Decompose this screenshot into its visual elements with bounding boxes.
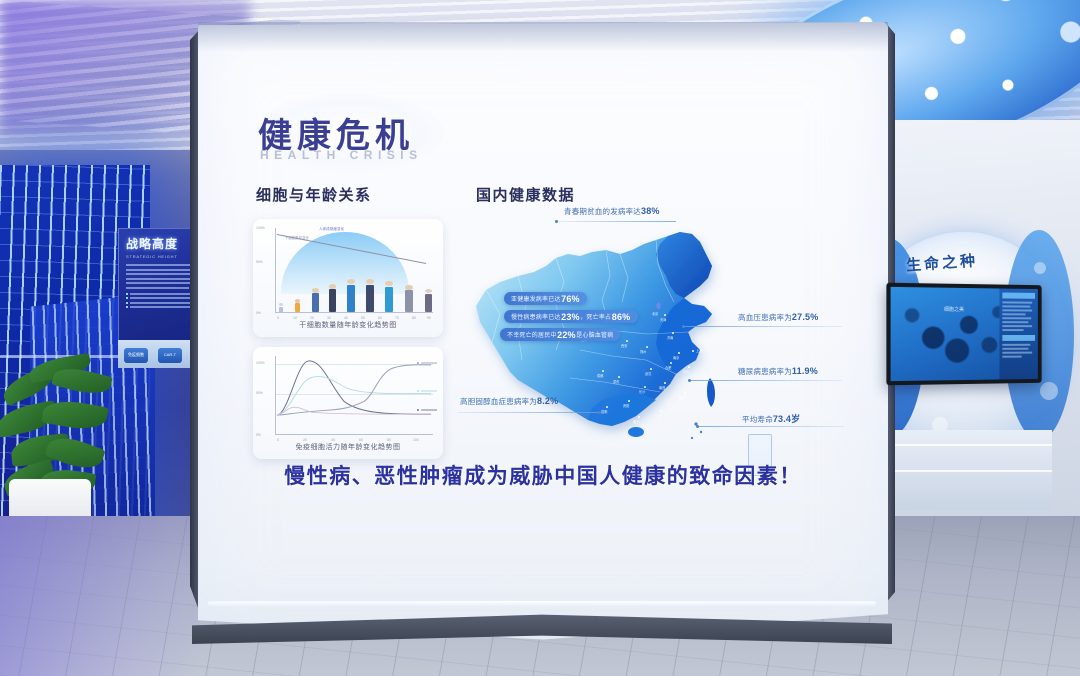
city-label-hefei: 合肥 [665, 365, 671, 370]
screen-label: 细胞之美 [944, 306, 964, 313]
callout-anemia: 青春期贫血的发病率达38% [564, 206, 660, 217]
callout-life-prefix: 平均寿命 [742, 415, 773, 424]
callout-life-expectancy: 平均寿命73.4岁 [742, 412, 800, 425]
city-dot-hefei[interactable] [670, 362, 672, 364]
city-label-nanjing: 南京 [673, 355, 679, 360]
chart-caption-stemcell: 干细胞数量随年龄变化趋势图 [253, 320, 443, 330]
city-dot-shanghai[interactable] [692, 350, 694, 352]
page-title-english: HEALTH CRISIS [260, 148, 423, 162]
city-dot-wuhan[interactable] [650, 368, 652, 370]
pill-chronic-prefix: 慢性病患病率已达 [511, 312, 561, 321]
city-label-wuhan: 武汉 [645, 371, 651, 376]
city-dot-hangzhou[interactable] [688, 366, 690, 368]
figure-age-30 [329, 284, 336, 312]
figure-age-50 [366, 279, 374, 312]
board-content: 健康危机 HEALTH CRISIS 细胞与年龄关系 国内健康数据 100% 5… [198, 22, 888, 642]
callout-line-hypertension [684, 326, 842, 327]
pill-subhealth: 亚健康发病率已达76% [504, 292, 587, 305]
callout-cholesterol: 高胆固醇血症患病率为8.2% [460, 396, 558, 407]
callout-anemia-value: 38% [641, 206, 660, 216]
slogan: 慢性病、恶性肿瘤成为威胁中国人健康的致命因素！ [198, 460, 888, 490]
callout-line-anemia [558, 221, 676, 222]
chip-immune-cell[interactable]: 免疫细胞 [124, 348, 148, 363]
exhibition-hall-scene: 战略高度 STRATEGIC HEIGHT 免疫细胞 CAR-T 间充质干细胞 [0, 0, 1080, 676]
y-tick: 100% [256, 361, 265, 365]
screen-side-panel [999, 289, 1037, 380]
callout-node-cholesterol [598, 411, 601, 414]
floor-purple-reflection [0, 516, 200, 676]
city-dot-nanjing[interactable] [678, 352, 680, 354]
callout-hypertension: 高血压患病率为27.5% [738, 312, 818, 323]
immune-plot: 100% 50% 0% 0 20 40 60 80 100 [275, 356, 433, 435]
seed-of-life-screen[interactable]: 细胞之美 [886, 283, 1041, 386]
city-dot-jinan[interactable] [672, 332, 674, 334]
callout-hypertension-prefix: 高血压患病率为 [738, 313, 792, 322]
callout-diabetes-prefix: 糖尿病患病率为 [738, 367, 792, 376]
callout-node-diabetes [688, 379, 691, 382]
city-label-fuzhou: 福州 [679, 395, 685, 400]
city-label-guiyang: 贵阳 [623, 403, 629, 408]
city-dot-chongqing[interactable] [618, 376, 620, 378]
city-dot-nanning[interactable] [638, 416, 640, 418]
pill-cardio-value: 22% [557, 330, 576, 340]
callout-node-anemia [555, 220, 558, 223]
city-label-zhengzhou: 郑州 [640, 349, 646, 354]
x-axis [275, 434, 433, 435]
city-label-chengdu: 成都 [597, 373, 603, 378]
city-label-kunming: 昆明 [601, 409, 607, 414]
pill-cardio-prefix: 不幸死亡的居民中 [507, 330, 557, 339]
display-board: 健康危机 HEALTH CRISIS 细胞与年龄关系 国内健康数据 100% 5… [198, 22, 888, 642]
callout-node-hypertension [682, 325, 685, 328]
figure-age-40 [347, 279, 355, 312]
y-tick: 0% [256, 433, 261, 437]
callout-cholesterol-value: 8.2% [537, 396, 558, 406]
immune-curves [275, 356, 433, 417]
city-label-chongqing: 重庆 [613, 379, 619, 384]
figure-age-0 [279, 303, 283, 312]
callout-anemia-prefix: 青春期贫血的发病率达 [564, 207, 641, 216]
city-dot-changsha[interactable] [644, 386, 646, 388]
callout-diabetes-value: 11.9% [792, 366, 818, 376]
figure-age-60 [385, 281, 393, 312]
city-dot-zhengzhou[interactable] [646, 346, 648, 348]
city-label-tianjin: 天津 [660, 317, 666, 322]
city-label-beijing: 北京 [652, 311, 658, 316]
city-label-nanning: 南宁 [633, 419, 639, 424]
figure-age-20 [312, 288, 319, 312]
bullet-dot-icon [126, 302, 128, 304]
city-dot-guiyang[interactable] [628, 400, 630, 402]
legend-risk [417, 362, 437, 364]
city-dot-kunming[interactable] [606, 406, 608, 408]
chip-car-t[interactable]: CAR-T [158, 348, 182, 363]
pill-chronic-value: 23% [561, 312, 580, 322]
bubble-decor [1034, 262, 1046, 274]
figure-age-70 [405, 285, 413, 312]
callout-node-life [696, 425, 699, 428]
city-dot-nanchang[interactable] [664, 382, 666, 384]
callout-line-cholesterol [458, 412, 600, 413]
chart-caption-immune: 免疫细胞活力随年龄变化趋势图 [253, 442, 443, 452]
y-tick: 0% [256, 311, 261, 315]
figure-age-80 [425, 289, 432, 312]
callout-hypertension-value: 27.5% [792, 312, 819, 322]
pill-chronic-suffix: ，死亡率占 [580, 312, 611, 321]
city-label-guangzhou: 广州 [655, 413, 661, 418]
callout-line-life [698, 426, 844, 427]
pill-chronic: 慢性病患病率已达23%，死亡率占86% [504, 310, 638, 323]
y-tick: 100% [256, 226, 265, 230]
pill-subhealth-value: 76% [561, 294, 580, 304]
china-map[interactable]: 北京 天津 上海 济南 郑州 武汉 南京 杭州 合肥 南昌 [460, 210, 778, 480]
bullet-dot-icon [126, 306, 128, 308]
series-label-maturity: 人体成熟度变化 [319, 227, 344, 232]
city-label-jinan: 济南 [667, 335, 673, 340]
city-dot-fuzhou[interactable] [684, 392, 686, 394]
exhibit-base [877, 430, 1052, 510]
city-label-hangzhou: 杭州 [683, 369, 689, 374]
callout-diabetes: 糖尿病患病率为11.9% [738, 366, 818, 377]
legend-count [417, 390, 437, 392]
series-label-stemcell: 干细胞数量变化 [285, 235, 309, 240]
city-dot-tianjin[interactable] [664, 314, 666, 316]
callout-line-diabetes [690, 380, 842, 381]
pill-cardiovascular: 不幸死亡的居民中22%是心脑血管病 [500, 328, 620, 341]
y-tick: 50% [256, 391, 263, 395]
city-label-nanchang: 南昌 [659, 385, 665, 390]
pill-cardio-suffix: 是心脑血管病 [576, 330, 613, 339]
section-title-cell-age: 细胞与年龄关系 [256, 184, 372, 205]
bullet-dot-icon [126, 297, 128, 299]
city-dot-guangzhou[interactable] [660, 410, 662, 412]
callout-cholesterol-prefix: 高胆固醇血症患病率为 [460, 397, 537, 406]
pill-chronic-value2: 86% [612, 312, 631, 322]
bullet-dot-icon [126, 293, 128, 295]
city-label-shanghai: 上海 [696, 348, 702, 353]
pill-subhealth-prefix: 亚健康发病率已达 [511, 294, 561, 303]
callout-life-value: 73.4岁 [773, 414, 801, 424]
stemcell-plot: 100% 50% 0% 0 10 20 30 40 50 60 70 80 90… [275, 228, 433, 313]
city-dot-xian[interactable] [626, 340, 628, 342]
figure-age-10 [295, 299, 300, 312]
chart-card-immune[interactable]: 100% 50% 0% 0 20 40 60 80 100 [253, 347, 443, 459]
city-label-changsha: 长沙 [639, 389, 645, 394]
legend-vitality [417, 409, 437, 411]
board-bottom-light [208, 601, 876, 606]
bubble-decor [1040, 382, 1058, 400]
y-tick: 50% [256, 260, 263, 264]
city-label-xian: 西安 [621, 343, 627, 348]
china-map-svg [460, 210, 778, 480]
city-dot-chengdu[interactable] [602, 370, 604, 372]
chart-card-stemcell[interactable]: 100% 50% 0% 0 10 20 30 40 50 60 70 80 90… [253, 219, 443, 337]
section-title-health-data: 国内健康数据 [476, 184, 575, 205]
